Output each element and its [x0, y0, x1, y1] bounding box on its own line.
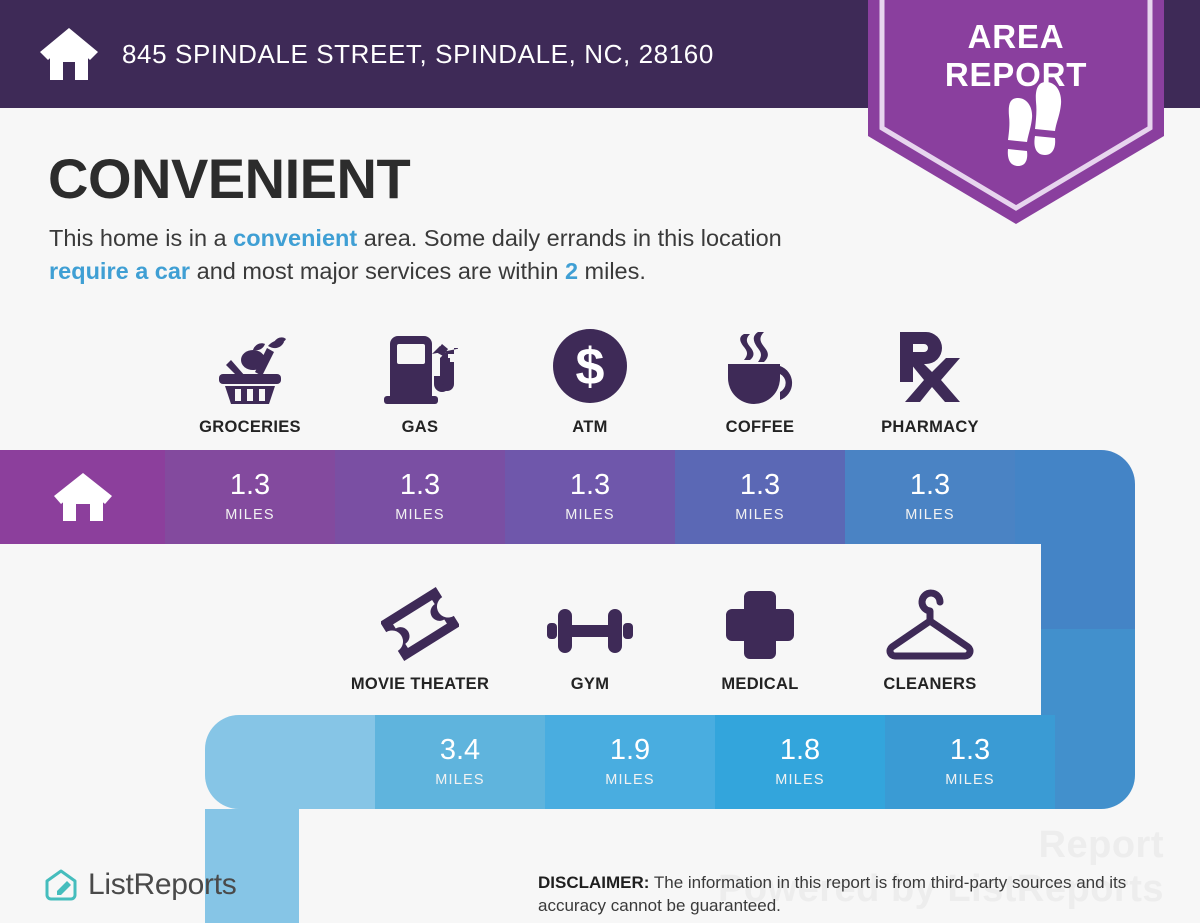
distance-cell-atm: 1.3 MILES	[505, 450, 675, 544]
amenity-label: MOVIE THEATER	[351, 675, 489, 694]
svg-text:$: $	[576, 338, 605, 396]
home-icon	[52, 471, 114, 523]
desc-text-3: and most major services are within	[190, 258, 565, 284]
listreports-logo: ListReports	[44, 868, 236, 902]
amenity-coffee: COFFEE	[675, 328, 845, 437]
desc-text-4: miles.	[578, 258, 646, 284]
distance-unit: MILES	[775, 772, 825, 788]
distance-unit: MILES	[395, 507, 445, 523]
amenity-pharmacy: PHARMACY	[845, 328, 1015, 437]
distance-value: 1.3	[230, 471, 270, 500]
desc-highlight-require-a-car: require a car	[49, 258, 190, 284]
amenity-atm: $ ATM	[505, 328, 675, 437]
amenity-label: GAS	[402, 418, 439, 437]
distance-unit: MILES	[945, 772, 995, 788]
amenity-label: PHARMACY	[881, 418, 979, 437]
disclaimer-label: DISCLAIMER:	[538, 873, 649, 892]
distance-cell-medical: 1.8 MILES	[715, 715, 885, 809]
rx-icon	[892, 328, 968, 404]
page-title: CONVENIENT	[48, 146, 410, 211]
distance-cell-pharmacy: 1.3 MILES	[845, 450, 1015, 544]
amenity-label: ATM	[572, 418, 607, 437]
distance-bar-row-1: 1.3 MILES 1.3 MILES 1.3 MILES 1.3 MILES …	[0, 450, 1135, 544]
amenity-cleaners: CLEANERS	[845, 585, 1015, 694]
amenity-label: MEDICAL	[721, 675, 798, 694]
distance-value: 1.3	[950, 736, 990, 765]
distance-cell-cleaners: 1.3 MILES	[885, 715, 1055, 809]
desc-highlight-convenient: convenient	[233, 225, 357, 251]
amenity-label: GYM	[571, 675, 609, 694]
amenity-medical: MEDICAL	[675, 585, 845, 694]
listreports-logo-text: ListReports	[88, 868, 236, 902]
amenity-label: CLEANERS	[883, 675, 976, 694]
amenity-movie-theater: MOVIE THEATER	[335, 585, 505, 694]
distance-bar-row-2: 3.4 MILES 1.9 MILES 1.8 MILES 1.3 MILES	[205, 715, 1135, 809]
ribbon-connector-right	[1041, 544, 1135, 715]
distance-value: 3.4	[440, 736, 480, 765]
ribbon-tail-bottom-left	[205, 809, 299, 923]
area-report-badge: AREA REPORT	[868, 0, 1164, 224]
distance-value: 1.3	[400, 471, 440, 500]
summary-description: This home is in a convenient area. Some …	[49, 222, 859, 289]
amenity-icon-row-1: GROCERIES GAS $ ATM	[165, 328, 1015, 437]
medical-cross-icon	[724, 585, 796, 661]
gas-pump-icon	[382, 328, 458, 404]
amenity-label: GROCERIES	[199, 418, 301, 437]
disclaimer: DISCLAIMER: The information in this repo…	[538, 872, 1188, 917]
clothes-hanger-icon	[882, 585, 978, 661]
distance-cell-groceries: 1.3 MILES	[165, 450, 335, 544]
distance-unit: MILES	[435, 772, 485, 788]
home-marker-segment	[0, 450, 165, 544]
ribbon-head-left-2	[205, 715, 375, 809]
dumbbell-icon	[547, 585, 633, 661]
distance-unit: MILES	[565, 507, 615, 523]
distance-unit: MILES	[605, 772, 655, 788]
desc-highlight-miles: 2	[565, 258, 578, 284]
home-icon	[38, 26, 100, 82]
distance-cell-gas: 1.3 MILES	[335, 450, 505, 544]
distance-value: 1.3	[740, 471, 780, 500]
distance-unit: MILES	[905, 507, 955, 523]
amenity-label: COFFEE	[726, 418, 795, 437]
distance-cell-movie-theater: 3.4 MILES	[375, 715, 545, 809]
distance-unit: MILES	[735, 507, 785, 523]
amenity-icon-row-2: MOVIE THEATER GYM MEDICAL	[335, 585, 1015, 694]
amenity-gas: GAS	[335, 328, 505, 437]
coffee-cup-icon	[720, 328, 800, 404]
amenity-groceries: GROCERIES	[165, 328, 335, 437]
desc-text-2: area. Some daily errands in this locatio…	[357, 225, 782, 251]
dollar-circle-icon: $	[552, 328, 628, 404]
distance-cell-coffee: 1.3 MILES	[675, 450, 845, 544]
listreports-house-pen-icon	[44, 868, 78, 902]
grocery-basket-icon	[211, 328, 289, 404]
distance-value: 1.9	[610, 736, 650, 765]
distance-value: 1.3	[910, 471, 950, 500]
ribbon-tail-right-1	[1015, 450, 1135, 544]
movie-ticket-icon	[381, 585, 459, 661]
distance-cell-gym: 1.9 MILES	[545, 715, 715, 809]
distance-unit: MILES	[225, 507, 275, 523]
distance-value: 1.8	[780, 736, 820, 765]
distance-value: 1.3	[570, 471, 610, 500]
property-address: 845 SPINDALE STREET, SPINDALE, NC, 28160	[122, 39, 714, 70]
desc-text-1: This home is in a	[49, 225, 233, 251]
amenity-gym: GYM	[505, 585, 675, 694]
ribbon-tail-right-2	[1055, 715, 1135, 809]
